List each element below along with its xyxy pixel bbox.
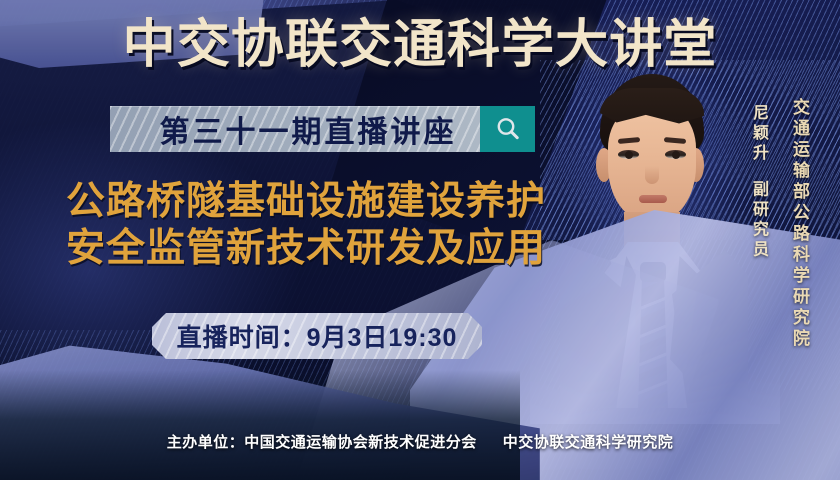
footer-prefix: 主办单位： [167, 434, 245, 451]
topic-line-1: 公路桥隧基础设施建设养护 [26, 178, 586, 225]
live-lecture-poster: 中交协联交通科学大讲堂 第三十一期直播讲座 公路桥隧基础设施建设养护 安全监管新… [0, 0, 840, 480]
portrait-pupil-left [625, 151, 633, 159]
portrait-mouth [639, 195, 667, 203]
portrait-eye-right [665, 150, 686, 159]
footer-organizers: 主办单位：中国交通运输协会新技术促进分会中交协联交通科学研究院 [0, 431, 840, 452]
search-button[interactable] [480, 106, 535, 152]
portrait-pupil-right [672, 151, 680, 159]
speaker-name: 尼颖升 [750, 104, 767, 164]
speaker-spacer [750, 164, 767, 180]
session-label: 第三十一期直播讲座 [110, 107, 480, 151]
portrait-eye-left [618, 150, 639, 159]
portrait-nose [645, 166, 659, 184]
speaker-title: 副研究员 [750, 180, 767, 260]
topic-line-2: 安全监管新技术研发及应用 [26, 225, 586, 272]
bottom-shade [0, 370, 520, 480]
broadcast-time-badge: 直播时间：9月3日19:30 [152, 313, 482, 359]
search-icon [493, 114, 523, 144]
broadcast-time-text: 直播时间：9月3日19:30 [177, 318, 458, 354]
footer-org-1: 中国交通运输协会新技术促进分会 [244, 434, 477, 451]
session-bar: 第三十一期直播讲座 [110, 106, 535, 152]
lecture-topic: 公路桥隧基础设施建设养护 安全监管新技术研发及应用 [26, 178, 586, 272]
speaker-identity: 尼颖升 副研究员 [748, 104, 768, 260]
page-title: 中交协联交通科学大讲堂 [0, 14, 840, 76]
footer-org-2: 中交协联交通科学研究院 [503, 434, 674, 451]
speaker-organization: 交通运输部公路科学研究院 [789, 98, 810, 350]
